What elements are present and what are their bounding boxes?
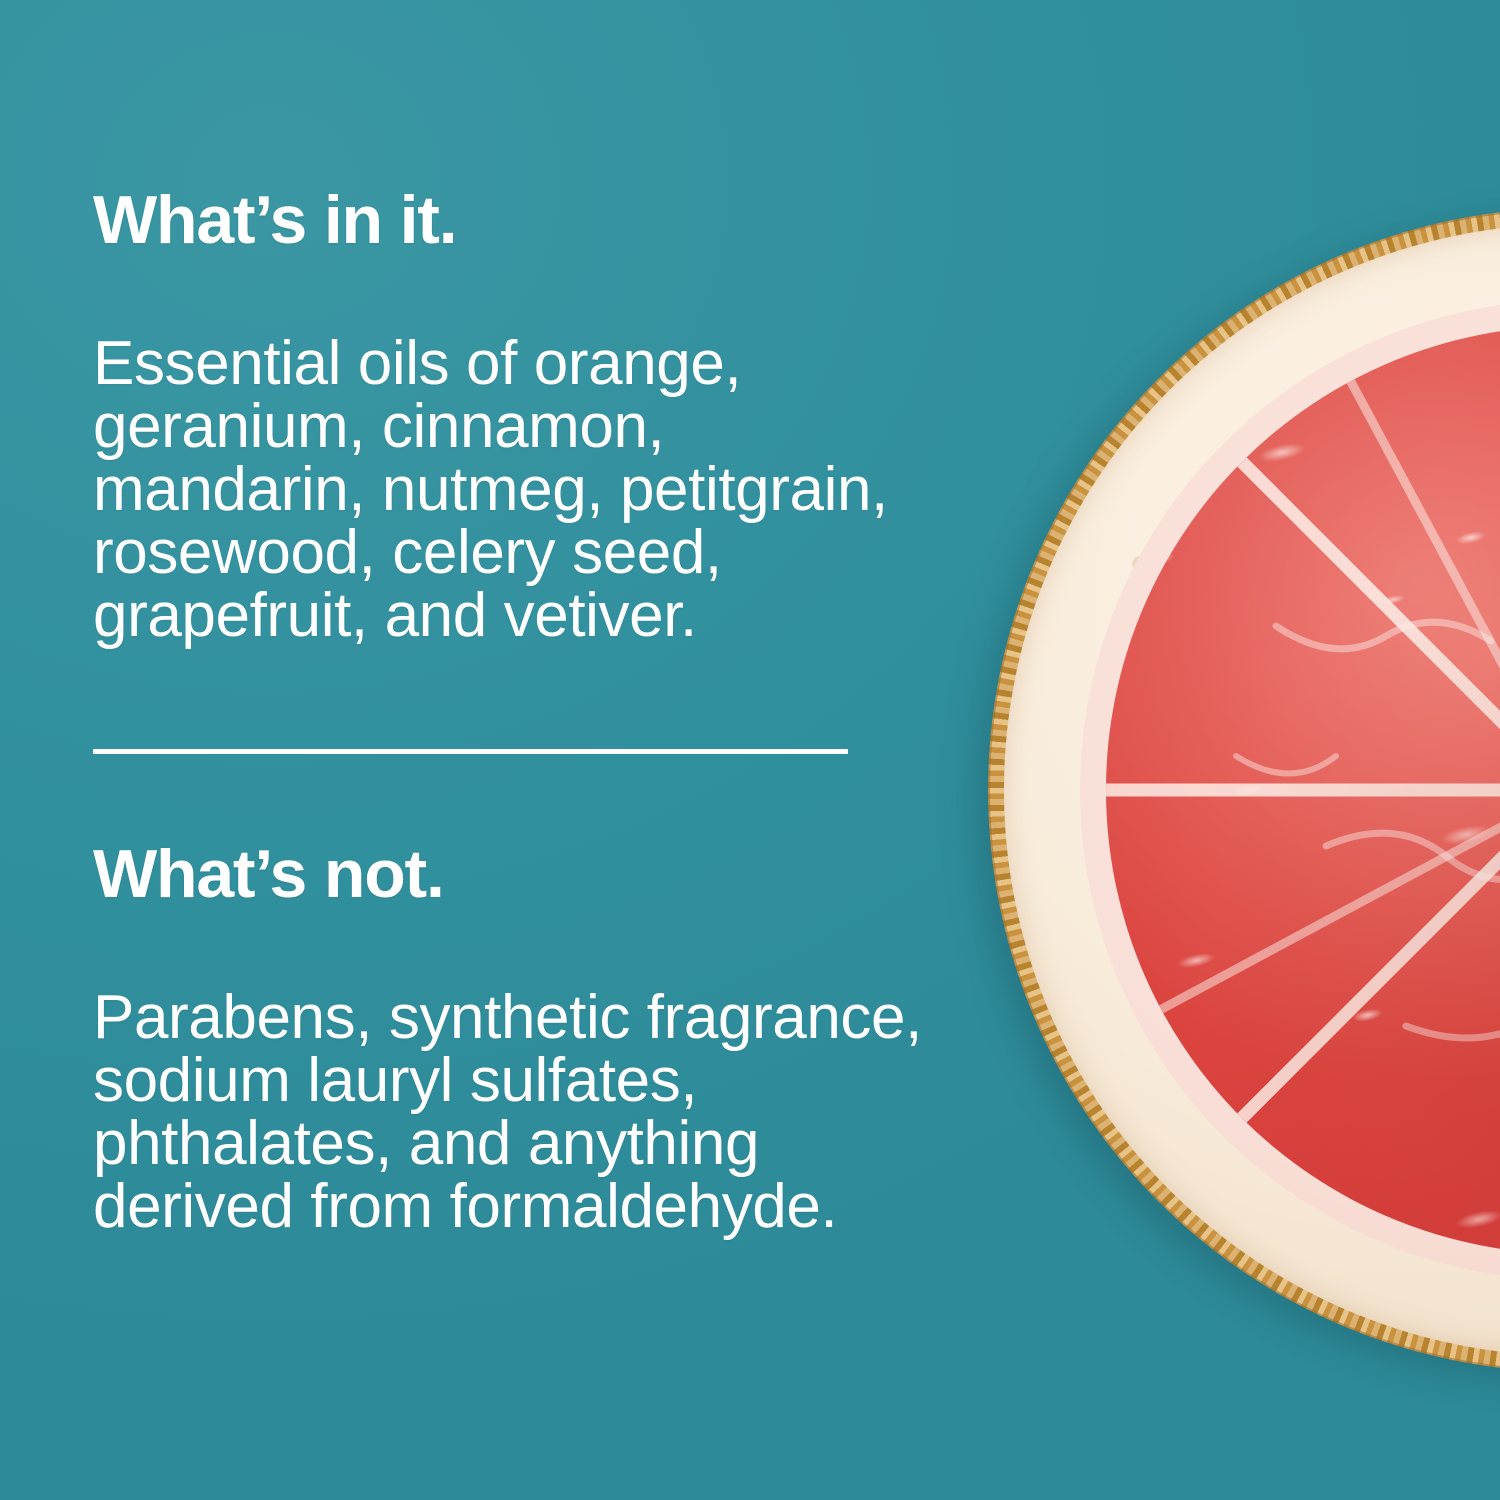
text-column: What’s in it. Essential oils of orange, … [93, 0, 993, 1500]
heading-whats-not: What’s not. [93, 840, 922, 908]
grapefruit-segment-membranes [1106, 326, 1500, 1254]
section-whats-not: What’s not. Parabens, synthetic fragranc… [93, 840, 922, 1238]
section-whats-in-it: What’s in it. Essential oils of orange, … [93, 186, 888, 647]
excluded-ingredients-text: Parabens, synthetic fragrance, sodium la… [93, 986, 922, 1238]
grapefruit-flesh [1106, 326, 1500, 1254]
section-divider [93, 749, 848, 754]
ingredients-poster: What’s in it. Essential oils of orange, … [0, 0, 1500, 1500]
heading-whats-in-it: What’s in it. [93, 186, 888, 254]
ingredients-list-text: Essential oils of orange, geranium, cinn… [93, 332, 888, 647]
grapefruit-slice-image [988, 208, 1500, 1372]
